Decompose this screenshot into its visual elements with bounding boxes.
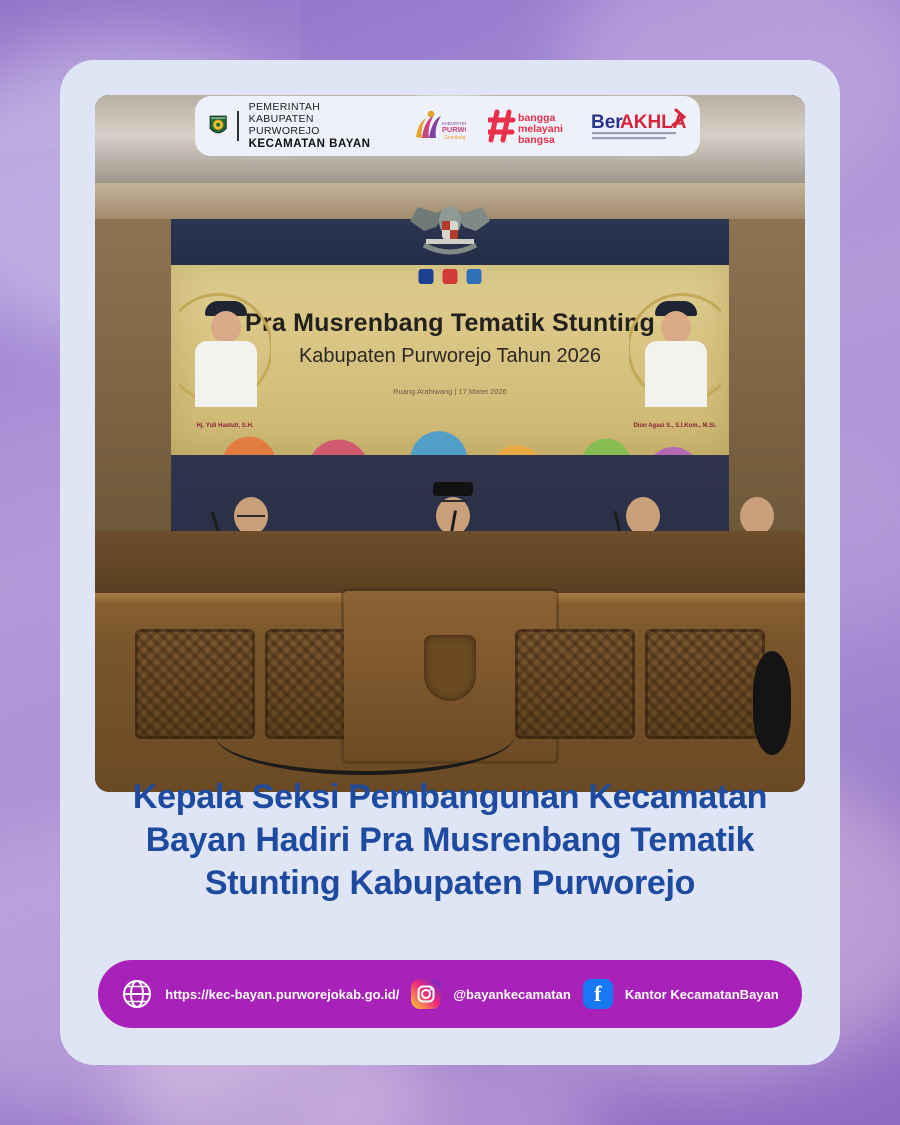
government-title-block: PEMERINTAH KABUPATEN PURWOREJO KECAMATAN… <box>249 101 380 152</box>
instagram-icon[interactable] <box>411 979 441 1009</box>
eyeglasses-icon <box>439 500 467 507</box>
side-wall-left <box>95 219 171 549</box>
government-line2: KECAMATAN BAYAN <box>249 138 380 152</box>
wood-carving-panel <box>135 629 255 739</box>
person-head <box>740 497 774 535</box>
wood-carving-panel <box>515 629 635 739</box>
peci-cap-icon <box>433 482 473 496</box>
svg-text:PURWOREJO: PURWOREJO <box>442 125 466 134</box>
headline-line-3: Stunting Kabupaten Purworejo <box>84 862 816 905</box>
portrait-right-name: Dion Agasi S., S.I.Kom., M.Si. <box>629 423 721 429</box>
svg-text:bangsa: bangsa <box>518 134 555 146</box>
person-head <box>626 497 660 535</box>
portrait-left-name: Hj. Yuli Hastuti, S.H. <box>179 423 271 429</box>
svg-text:Ber: Ber <box>591 112 623 133</box>
eyeglasses-icon <box>237 515 265 522</box>
branding-header-bar: PEMERINTAH KABUPATEN PURWOREJO KECAMATAN… <box>195 96 700 156</box>
portrait-right: Dion Agasi S., S.I.Kom., M.Si. <box>629 285 721 435</box>
portrait-uniform <box>195 341 257 407</box>
event-banner: Pra Musrenbang Tematik Stunting Kabupate… <box>171 265 729 455</box>
purworejo-tourism-logo: KABUPATEN PURWOREJO Gemilang <box>408 107 466 145</box>
headline-line-1: Kepala Seksi Pembangunan Kecamatan <box>84 776 816 819</box>
government-line1: PEMERINTAH KABUPATEN PURWOREJO <box>249 101 380 138</box>
globe-icon[interactable] <box>121 978 153 1010</box>
portrait-uniform <box>645 341 707 407</box>
facebook-page[interactable]: Kantor KecamatanBayan <box>625 987 779 1002</box>
portrait-head <box>211 311 241 343</box>
meeting-room-photo: Pra Musrenbang Tematik Stunting Kabupate… <box>95 95 805 792</box>
wood-carving-panel <box>645 629 765 739</box>
berakhlak-logo: Ber AKHLAK <box>590 106 686 146</box>
poster-card: Pra Musrenbang Tematik Stunting Kabupate… <box>60 60 840 1065</box>
bangga-melayani-bangsa-logo: bangga melayani bangsa <box>488 106 568 146</box>
social-footer-bar: https://kec-bayan.purworejokab.go.id/ @b… <box>98 960 802 1028</box>
svg-text:Gemilang: Gemilang <box>444 135 466 141</box>
speaker-cabinet <box>753 651 791 755</box>
instagram-handle[interactable]: @bayankecamatan <box>453 987 570 1002</box>
facebook-icon[interactable]: f <box>583 979 613 1009</box>
purworejo-coat-of-arms-icon <box>209 108 227 144</box>
garuda-pancasila-emblem-icon <box>390 191 510 261</box>
portrait-left: Hj. Yuli Hastuti, S.H. <box>179 285 271 435</box>
headline-line-2: Bayan Hadiri Pra Musrenbang Tematik <box>84 819 816 862</box>
podium-crest-icon <box>424 635 476 701</box>
desk-back <box>95 531 805 593</box>
banner-mini-logos <box>419 269 482 284</box>
portrait-head <box>661 311 691 343</box>
header-divider <box>237 111 238 141</box>
article-headline: Kepala Seksi Pembangunan Kecamatan Bayan… <box>60 776 840 906</box>
website-url[interactable]: https://kec-bayan.purworejokab.go.id/ <box>165 987 399 1002</box>
